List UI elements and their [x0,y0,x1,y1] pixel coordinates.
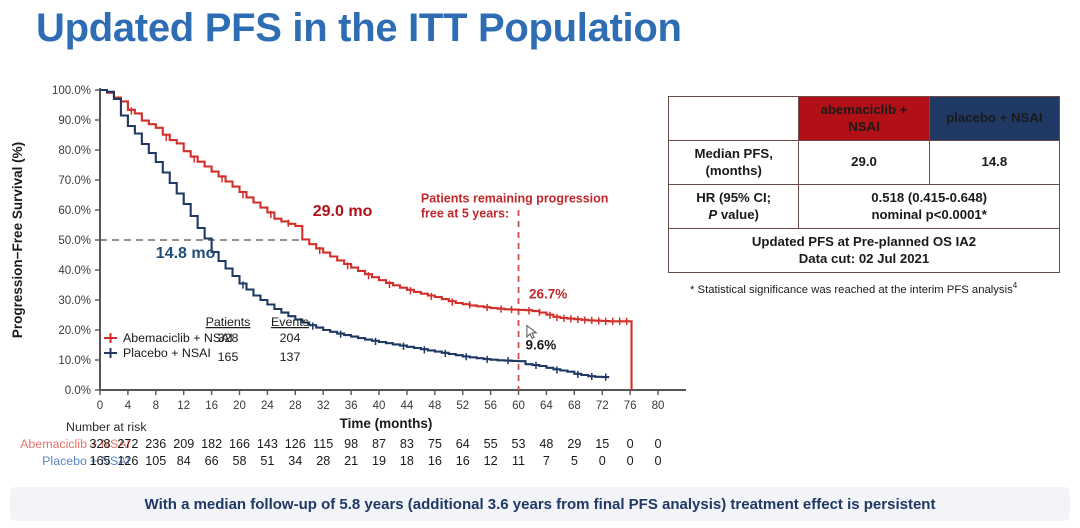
bottom-summary-text: With a median follow-up of 5.8 years (ad… [145,496,936,513]
risk-value: 55 [476,437,506,451]
row-label-median-pfs: Median PFS, (months) [669,141,799,185]
x-tick-label: 0 [97,400,103,412]
x-tick-label: 24 [261,400,274,412]
risk-value: 182 [197,437,227,451]
y-tick-label: 0.0% [65,385,91,397]
risk-value: 272 [113,437,143,451]
hazard-ratio-value: 0.518 (0.415-0.648) nominal p<0.0001* [799,185,1060,229]
table-footnote: * Statistical significance was reached a… [690,281,1070,296]
risk-value: 87 [364,437,394,451]
risk-value: 21 [336,454,366,468]
legend-patients-placebo: 165 [218,350,239,364]
median-pfs-placebo: 14.8 [929,141,1059,185]
risk-value: 236 [141,437,171,451]
page-title: Updated PFS in the ITT Population [36,6,682,51]
x-tick-label: 48 [428,400,441,412]
y-tick-label: 80.0% [58,145,91,157]
row-label-hr-line2-rest: value) [717,207,759,222]
y-tick-label: 30.0% [58,295,91,307]
row-label-hr-line1: HR (95% CI; [696,190,771,205]
x-tick-label: 20 [233,400,246,412]
x-tick-label: 16 [205,400,218,412]
x-tick-label: 60 [512,400,525,412]
x-tick-label: 4 [125,400,132,412]
mouse-cursor-icon [527,326,536,339]
legend-column-header-patients: Patients [206,315,251,329]
table-footnote-text: * Statistical significance was reached a… [690,284,1013,296]
row-label-median-pfs-line1: Median PFS, [694,146,772,161]
risk-value: 16 [448,454,478,468]
risk-value: 64 [448,437,478,451]
table-footnote-superscript: 4 [1013,281,1017,290]
km-chart-svg: 0.0%10.0%20.0%30.0%40.0%50.0%60.0%70.0%8… [0,78,700,478]
risk-value: 166 [225,437,255,451]
hazard-ratio-pvalue: nominal p<0.0001* [871,207,986,222]
km-chart-panel: 0.0%10.0%20.0%30.0%40.0%50.0%60.0%70.0%8… [0,78,700,478]
number-at-risk-table: Number at risk Abemaciclib + NSAI 328272… [0,420,660,476]
risk-value: 5 [559,454,589,468]
x-tick-label: 28 [289,400,302,412]
table-row-footer: Updated PFS at Pre-planned OS IA2 Data c… [669,229,1060,273]
x-tick-label: 40 [373,400,386,412]
table-footer-line1: Updated PFS at Pre-planned OS IA2 [752,234,976,249]
risk-value: 165 [85,454,115,468]
table-row-median-pfs: Median PFS, (months) 29.0 14.8 [669,141,1060,185]
legend-events-placebo: 137 [280,350,301,364]
results-summary-table: abemaciclib + NSAI placebo + NSAI Median… [668,96,1060,273]
median-red-label: 29.0 mo [313,203,373,220]
risk-value: 51 [252,454,282,468]
risk-value: 19 [364,454,394,468]
table-footer-note: Updated PFS at Pre-planned OS IA2 Data c… [669,229,1060,273]
risk-value: 0 [615,437,645,451]
y-tick-label: 40.0% [58,265,91,277]
risk-value: 98 [336,437,366,451]
abema-5yr-pct: 26.7% [529,287,567,302]
x-tick-label: 68 [568,400,581,412]
bottom-summary-banner: With a median follow-up of 5.8 years (ad… [10,487,1070,521]
risk-value: 15 [587,437,617,451]
risk-value: 16 [420,454,450,468]
risk-value: 0 [615,454,645,468]
table-corner-blank [669,97,799,141]
row-label-median-pfs-line2: (months) [705,163,761,178]
y-tick-label: 70.0% [58,175,91,187]
five-year-note-line1: Patients remaining progression [421,192,609,206]
risk-row-abemaciclib: Abemaciclib + NSAI 328272236209182166143… [0,437,660,453]
risk-value: 28 [308,454,338,468]
five-year-note-line2: free at 5 years: [421,207,509,221]
risk-value: 0 [643,454,673,468]
x-tick-label: 44 [401,400,414,412]
risk-value: 143 [252,437,282,451]
x-tick-label: 52 [456,400,469,412]
row-label-hr-p-italic: P [708,207,717,222]
risk-value: 11 [504,454,534,468]
risk-value: 29 [559,437,589,451]
y-tick-label: 90.0% [58,115,91,127]
x-tick-label: 76 [624,400,637,412]
risk-value: 0 [587,454,617,468]
column-header-placebo: placebo + NSAI [929,97,1059,141]
x-tick-label: 56 [484,400,497,412]
risk-value: 84 [169,454,199,468]
risk-value: 0 [643,437,673,451]
risk-value: 75 [420,437,450,451]
x-tick-label: 8 [153,400,159,412]
risk-value: 34 [280,454,310,468]
risk-value: 328 [85,437,115,451]
risk-value: 58 [225,454,255,468]
x-tick-label: 12 [177,400,190,412]
x-tick-label: 80 [652,400,665,412]
median-pfs-abemaciclib: 29.0 [799,141,929,185]
x-tick-label: 72 [596,400,609,412]
x-tick-label: 32 [317,400,330,412]
hazard-ratio-ci: 0.518 (0.415-0.648) [871,190,987,205]
risk-value: 66 [197,454,227,468]
risk-value: 18 [392,454,422,468]
legend-patients-abemaciclib: 328 [218,331,239,345]
y-tick-label: 60.0% [58,205,91,217]
risk-value: 12 [476,454,506,468]
row-label-hazard-ratio: HR (95% CI; P value) [669,185,799,229]
table-header-row: abemaciclib + NSAI placebo + NSAI [669,97,1060,141]
x-tick-label: 36 [345,400,358,412]
y-tick-label: 20.0% [58,325,91,337]
risk-value: 53 [504,437,534,451]
risk-value: 126 [280,437,310,451]
risk-value: 7 [531,454,561,468]
legend-label-placebo: Placebo + NSAI [123,346,211,360]
risk-row-placebo: Placebo + NSAI 1651261058466585134282119… [0,454,660,470]
risk-value: 48 [531,437,561,451]
column-header-abemaciclib: abemaciclib + NSAI [799,97,929,141]
table-footer-line2: Data cut: 02 Jul 2021 [799,251,929,266]
legend-events-abemaciclib: 204 [280,331,301,345]
table-row-hazard-ratio: HR (95% CI; P value) 0.518 (0.415-0.648)… [669,185,1060,229]
placebo-5yr-pct: 9.6% [526,338,557,353]
slide-root: Updated PFS in the ITT Population 0.0%10… [0,0,1080,528]
y-tick-label: 50.0% [58,235,91,247]
y-axis-title: Progression−Free Survival (%) [10,142,25,338]
legend-column-header-events: Events [271,315,309,329]
risk-value: 83 [392,437,422,451]
x-tick-label: 64 [540,400,553,412]
legend-label-abemaciclib: Abemaciclib + NSAI [123,331,233,345]
risk-value: 126 [113,454,143,468]
number-at-risk-heading: Number at risk [66,420,147,434]
risk-value: 115 [308,437,338,451]
risk-value: 209 [169,437,199,451]
y-tick-label: 10.0% [58,355,91,367]
median-blue-label: 14.8 mo [156,245,216,262]
risk-value: 105 [141,454,171,468]
y-tick-label: 100.0% [52,85,91,97]
